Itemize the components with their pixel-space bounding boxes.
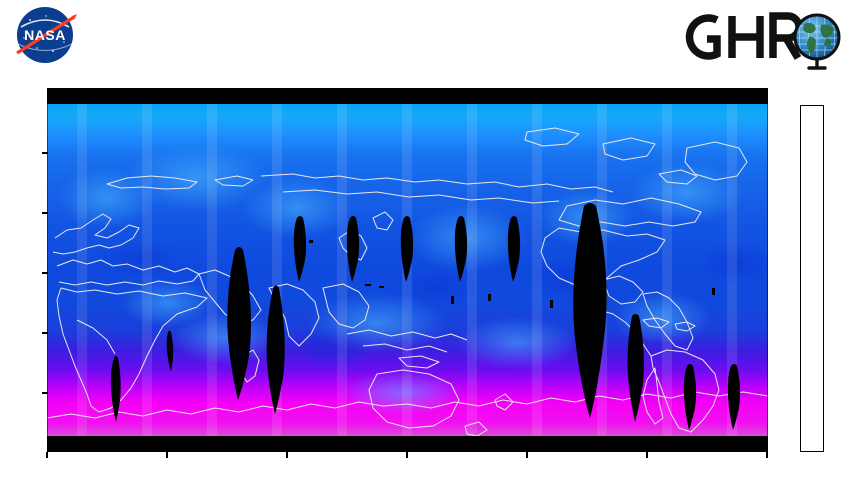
lat-tick-60n (42, 152, 48, 154)
lon-tick-180 (406, 452, 408, 458)
lon-tick-120e (286, 452, 288, 458)
lon-tick-60w (646, 452, 648, 458)
nasa-center-label (6, 66, 84, 82)
screenshot-root: NASA (0, 0, 854, 502)
ghrc-logo (676, 4, 850, 78)
colorbar[interactable] (800, 105, 824, 452)
lat-tick-eq (42, 272, 48, 274)
lon-tick-0b (766, 452, 768, 458)
map-plot[interactable] (47, 88, 768, 452)
lon-tick-60e (166, 452, 168, 458)
lon-tick-0a (46, 452, 48, 458)
lat-tick-30n (42, 212, 48, 214)
svg-text:NASA: NASA (24, 27, 66, 43)
nasa-logo: NASA (6, 4, 84, 66)
lat-tick-30s (42, 332, 48, 334)
lat-tick-60s (42, 392, 48, 394)
lon-tick-120w (526, 452, 528, 458)
